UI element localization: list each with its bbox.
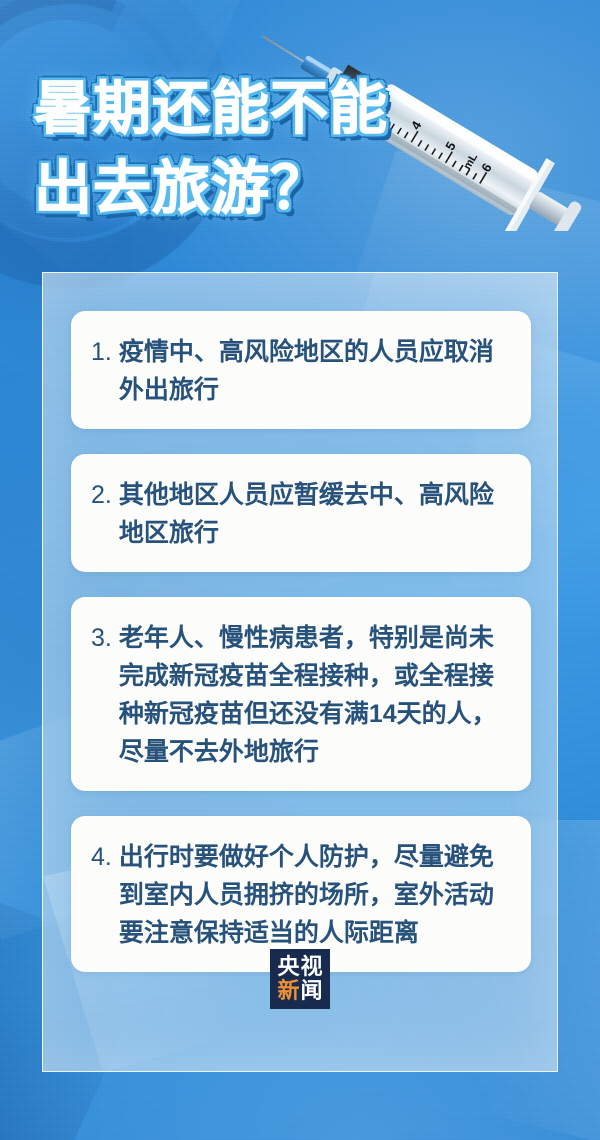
list-item[interactable]: 2. 其他地区人员应暂缓去中、高风险地区旅行 [71,454,531,572]
list-item[interactable]: 1. 疫情中、高风险地区的人员应取消外出旅行 [71,311,531,429]
tips-list: 1. 疫情中、高风险地区的人员应取消外出旅行 2. 其他地区人员应暂缓去中、高风… [71,311,531,972]
cctv-news-logo[interactable]: 央 视 新 闻 [270,949,330,1009]
svg-text:mL: mL [461,151,480,172]
tip-text: 出行时要做好个人防护，尽量避免到室内人员拥挤的场所，室外活动要注意保持适当的人际… [119,838,511,952]
poster-root: 3 4 5 mL 6 暑期还能不能 出去旅游？ [0,0,600,1140]
logo-char-xin: 新 [277,980,300,1002]
poster-title: 暑期还能不能 出去旅游？ [34,72,464,226]
svg-text:6: 6 [478,161,495,175]
logo-char-wen: 闻 [300,980,323,1002]
logo-char-yang: 央 [277,956,300,978]
title-line-1: 暑期还能不能 [34,72,464,146]
tip-text: 老年人、慢性病患者，特别是尚未完成新冠疫苗全程接种，或全程接种新冠疫苗但还没有满… [119,619,511,771]
logo-line-2: 新 闻 [277,980,323,1002]
logo-char-shi: 视 [300,956,323,978]
tip-text: 其他地区人员应暂缓去中、高风险地区旅行 [119,476,511,552]
tip-number: 2. [91,476,112,514]
tip-text: 疫情中、高风险地区的人员应取消外出旅行 [119,333,511,409]
content-panel: 1. 疫情中、高风险地区的人员应取消外出旅行 2. 其他地区人员应暂缓去中、高风… [42,272,558,1072]
tip-number: 4. [91,838,112,876]
tip-row: 4. 出行时要做好个人防护，尽量避免到室内人员拥挤的场所，室外活动要注意保持适当… [91,838,511,952]
logo-line-1: 央 视 [277,956,323,978]
tip-number: 1. [91,333,112,371]
tip-row: 2. 其他地区人员应暂缓去中、高风险地区旅行 [91,476,511,552]
tip-row: 3. 老年人、慢性病患者，特别是尚未完成新冠疫苗全程接种，或全程接种新冠疫苗但还… [91,619,511,771]
title-line-2: 出去旅游？ [34,152,464,226]
list-item[interactable]: 3. 老年人、慢性病患者，特别是尚未完成新冠疫苗全程接种，或全程接种新冠疫苗但还… [71,597,531,791]
tip-row: 1. 疫情中、高风险地区的人员应取消外出旅行 [91,333,511,409]
tip-number: 3. [91,619,112,657]
